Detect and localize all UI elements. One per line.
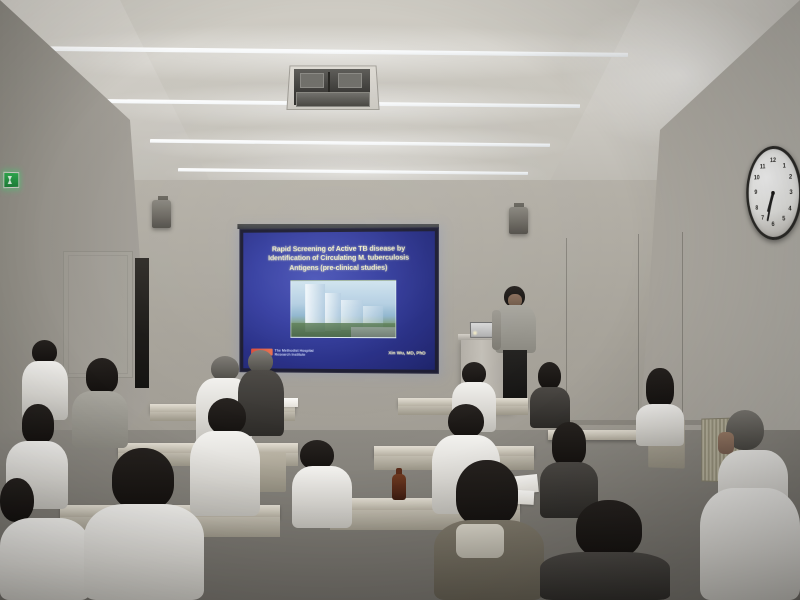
audience-person-near-2 (84, 448, 204, 600)
clock-center-pin (771, 191, 775, 195)
torso (72, 391, 128, 448)
torso (292, 466, 352, 528)
head (538, 362, 561, 390)
projector-vent-right (338, 73, 362, 88)
clock-numeral: 12 (770, 158, 776, 164)
torso (700, 488, 800, 600)
head (86, 358, 118, 394)
clock-numeral: 9 (754, 190, 757, 196)
head (456, 460, 518, 526)
clock-numeral: 2 (789, 175, 792, 181)
clock-numeral: 8 (755, 206, 758, 212)
projector-lower-panel (296, 92, 370, 107)
wall-recess-panel-inner (68, 255, 128, 374)
projector-vent-left (300, 73, 324, 88)
audience-person-back-2 (72, 358, 128, 448)
clock-numeral: 1 (783, 164, 786, 170)
wall-clock: 12 3 6 9 1 2 4 5 7 8 10 11 (746, 144, 800, 242)
lecture-hall-photo: 12 3 6 9 1 2 4 5 7 8 10 11 Rapid Screeni… (0, 0, 800, 600)
head (646, 368, 674, 408)
audience-person-near-3 (434, 460, 544, 600)
head (552, 422, 586, 466)
slide-photo-building (290, 280, 396, 338)
torso (636, 404, 684, 446)
audience-person-near-1 (0, 470, 90, 600)
hand-raised-to-face (718, 432, 734, 454)
slide-title-line-2: Identification of Circulating M. tubercu… (249, 254, 429, 264)
audience-person-back-7 (636, 368, 684, 446)
laptop-screen-glow (472, 330, 478, 336)
doorway-opening (135, 258, 149, 388)
head (208, 398, 246, 435)
torso (540, 552, 670, 600)
head (112, 448, 174, 510)
audience-person-back-6 (530, 362, 570, 428)
head (576, 500, 642, 558)
clock-numeral: 10 (754, 175, 760, 181)
clock-numeral: 7 (761, 216, 764, 222)
scarf-light (456, 524, 504, 558)
torso (84, 504, 204, 600)
bottle (392, 474, 406, 500)
clock-numeral: 5 (782, 217, 785, 223)
clock-numeral: 3 (789, 190, 792, 196)
speaker-right-icon (509, 207, 528, 234)
clock-numeral: 6 (772, 222, 775, 228)
head (22, 404, 54, 444)
presenter-arm (492, 310, 501, 350)
torso (0, 518, 90, 600)
speaker-left-icon (152, 200, 171, 228)
presenter-torso (495, 305, 536, 353)
slide-title: Rapid Screening of Active TB disease by … (249, 244, 429, 273)
head (448, 404, 484, 438)
clock-numeral: 11 (760, 165, 766, 171)
head (0, 478, 34, 522)
building-road (351, 327, 395, 337)
audience-person-near-5 (700, 478, 800, 600)
slide-presenter-credit: Xin Wu, MD, PhD (388, 350, 425, 355)
audience-person-near-4 (540, 500, 670, 600)
slide-title-line-3: Antigens (pre-clinical studies) (249, 263, 429, 273)
exit-sign-icon (3, 172, 19, 188)
slide-content: Rapid Screening of Active TB disease by … (243, 231, 435, 370)
audience-person-near-6 (292, 440, 352, 528)
clock-numeral: 4 (788, 206, 791, 212)
